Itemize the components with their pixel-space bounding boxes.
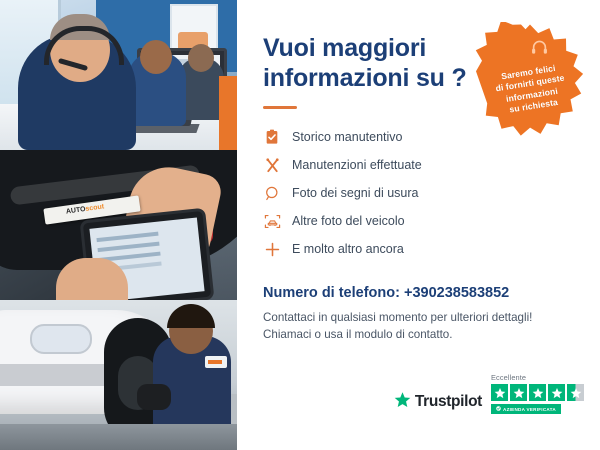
title-line-1: Vuoi maggiori bbox=[263, 34, 426, 62]
feature-item-foto-usura: Foto dei segni di usura bbox=[263, 179, 576, 207]
crossed-tools-icon bbox=[263, 156, 281, 174]
badge-text: Saremo felici di fornirti queste informa… bbox=[491, 46, 569, 118]
contact-line-1: Contattaci in qualsiasi momento per ulte… bbox=[263, 309, 576, 326]
star-5 bbox=[567, 384, 584, 401]
bumper-decor bbox=[0, 364, 114, 386]
feature-item-altro: E molto altro ancora bbox=[263, 235, 576, 263]
verified-badge: AZIENDA VERIFICATA bbox=[491, 404, 561, 414]
magnifier-icon bbox=[263, 184, 281, 202]
feature-label: Altre foto del veicolo bbox=[292, 214, 405, 228]
person-mid-head-decor bbox=[140, 40, 172, 74]
person-back-head-decor bbox=[188, 44, 214, 72]
plus-icon bbox=[263, 240, 281, 258]
mechanic-glove-decor bbox=[137, 384, 171, 410]
title-line-2: informazioni su ? bbox=[263, 64, 467, 92]
phone-line: Numero di telefono: +390238583852 bbox=[263, 285, 576, 301]
contact-line-2: Chiamaci o usa il modulo di contatto. bbox=[263, 326, 576, 343]
feature-label: Manutenzioni effettuate bbox=[292, 158, 422, 172]
phone-label: Numero di telefono: bbox=[263, 285, 400, 301]
car-lift-decor bbox=[0, 424, 237, 450]
star-1 bbox=[491, 384, 508, 401]
call-center-photo bbox=[0, 0, 237, 150]
trustpilot-star-icon bbox=[394, 391, 411, 413]
orange-panel-decor bbox=[219, 76, 237, 150]
trustpilot-rating[interactable]: Trustpilot Eccellente bbox=[394, 373, 584, 414]
star-3 bbox=[529, 384, 546, 401]
garage-wheel-photo bbox=[0, 300, 237, 450]
feature-label: E molto altro ancora bbox=[292, 242, 404, 256]
vehicle-inspection-photo: AUTOscout bbox=[0, 150, 237, 300]
trustpilot-logo: Trustpilot bbox=[394, 391, 482, 414]
feature-item-altre-foto: Altre foto del veicolo bbox=[263, 207, 576, 235]
advertisement-banner: AUTOscout Vuoi maggiori informazioni su … bbox=[0, 0, 600, 450]
feature-list: Storico manutentivo Manutenzioni effettu… bbox=[263, 123, 576, 263]
second-hand-decor bbox=[56, 258, 128, 300]
trustpilot-score: Eccellente bbox=[491, 373, 584, 414]
page-title: Vuoi maggiori informazioni su ? bbox=[263, 34, 473, 93]
star-2 bbox=[510, 384, 527, 401]
star-4 bbox=[548, 384, 565, 401]
uniform-logo-decor bbox=[205, 356, 227, 368]
star-rating bbox=[491, 384, 584, 401]
verified-label: AZIENDA VERIFICATA bbox=[503, 407, 556, 412]
trustpilot-wordmark: Trustpilot bbox=[415, 393, 482, 411]
verified-check-icon bbox=[496, 406, 501, 412]
headlight-decor bbox=[30, 324, 92, 354]
photo-column: AUTOscout bbox=[0, 0, 237, 450]
contact-text: Contattaci in qualsiasi momento per ulte… bbox=[263, 309, 576, 344]
content-panel: Vuoi maggiori informazioni su ? Storico … bbox=[237, 0, 600, 450]
car-frame-icon bbox=[263, 212, 281, 230]
callout-badge: Saremo felici di fornirti queste informa… bbox=[470, 22, 590, 142]
feature-label: Storico manutentivo bbox=[292, 130, 402, 144]
feature-item-manutenzioni: Manutenzioni effettuate bbox=[263, 151, 576, 179]
feature-label: Foto dei segni di usura bbox=[292, 186, 418, 200]
phone-number[interactable]: +390238583852 bbox=[404, 285, 509, 301]
rating-label: Eccellente bbox=[491, 373, 526, 382]
clipboard-check-icon bbox=[263, 128, 281, 146]
title-underline bbox=[263, 106, 297, 109]
mechanic-hair-decor bbox=[167, 304, 215, 328]
